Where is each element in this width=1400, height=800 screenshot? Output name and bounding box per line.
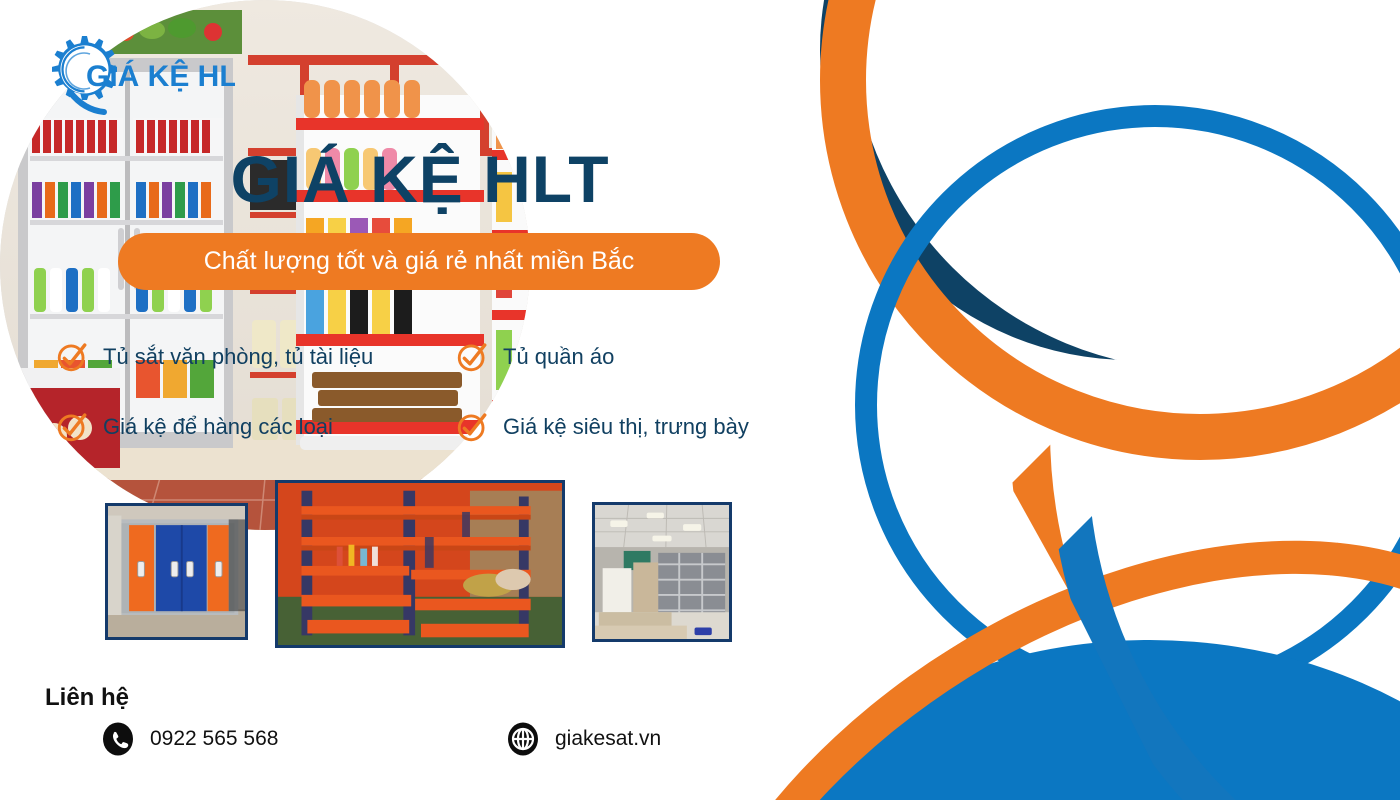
check-circle-icon [55, 340, 89, 374]
contact-website[interactable]: giakesat.vn [505, 721, 661, 757]
feature-item-3: Giá kệ để hàng các loại [55, 392, 455, 462]
feature-label: Giá kệ siêu thị, trưng bày [503, 414, 749, 440]
brand-logo[interactable]: GIÁ KỆ HLT [30, 30, 235, 125]
cabinet-illustration [108, 506, 245, 637]
subtitle-badge: Chất lượng tốt và giá rẻ nhất miền Bắc [118, 233, 720, 290]
office-shelving-illustration [595, 505, 729, 639]
warehouse-racking-photo[interactable] [275, 480, 565, 648]
blue-ring-shape [855, 105, 1400, 705]
phone-number: 0922 565 568 [150, 727, 278, 751]
page-title: GIÁ KỆ HLT [120, 145, 720, 214]
subtitle-text: Chất lượng tốt và giá rẻ nhất miền Bắc [204, 247, 635, 276]
check-circle-icon [55, 410, 89, 444]
gear-icon: GIÁ KỆ HLT [30, 30, 235, 125]
orange-corner-arc [820, 0, 1400, 460]
racking-illustration [278, 483, 562, 645]
check-circle-icon [455, 340, 489, 374]
globe-icon [505, 721, 541, 757]
feature-label: Giá kệ để hàng các loại [103, 414, 333, 440]
website-url: giakesat.vn [555, 727, 661, 751]
feature-item-2: Tủ quần áo [455, 322, 795, 392]
blue-bottom-shape [700, 640, 1400, 800]
feature-item-1: Tủ sắt văn phòng, tủ tài liệu [55, 322, 455, 392]
phone-icon [100, 721, 136, 757]
contact-heading: Liên hệ [45, 684, 129, 712]
orange-arc-mask [960, 0, 1400, 140]
feature-label: Tủ quần áo [503, 344, 614, 370]
blue-diagonal-stripe [1050, 0, 1400, 800]
feature-item-4: Giá kệ siêu thị, trưng bày [455, 392, 795, 462]
feature-list: Tủ sắt văn phòng, tủ tài liệu Tủ quần áo… [55, 322, 815, 462]
check-circle-icon [455, 410, 489, 444]
steel-cabinets-photo[interactable] [105, 503, 248, 640]
logo-text: GIÁ KỆ HLT [86, 59, 235, 93]
orange-diagonal-stripe [1010, 0, 1400, 800]
office-shelving-photo[interactable] [592, 502, 732, 642]
navy-corner-cutout [850, 0, 1400, 370]
promo-banner: GIÁ KỆ HLT GIÁ KỆ HLT Chất lượng tốt và … [0, 0, 1400, 800]
navy-corner-shape [820, 0, 1400, 360]
contact-phone[interactable]: 0922 565 568 [100, 721, 278, 757]
feature-label: Tủ sắt văn phòng, tủ tài liệu [103, 344, 373, 370]
